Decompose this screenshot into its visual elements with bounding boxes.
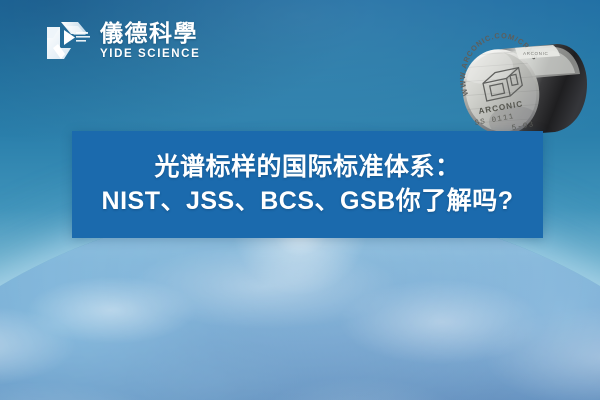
yide-logo-mark-icon	[44, 18, 92, 64]
brand-name-en: YIDE SCIENCE	[100, 49, 200, 61]
brand-name-cn: 儀德科學	[100, 22, 200, 45]
banner-title-line-1: 光谱标样的国际标准体系：	[154, 152, 460, 183]
banner-image: 儀德科學 YIDE SCIENCE	[0, 0, 600, 400]
banner-title-line-2: NIST、JSS、BCS、GSB你了解吗?	[102, 186, 514, 217]
brand-logo-text: 儀德科學 YIDE SCIENCE	[100, 22, 200, 61]
title-banner: 光谱标样的国际标准体系： NIST、JSS、BCS、GSB你了解吗?	[72, 131, 543, 238]
brand-logo: 儀德科學 YIDE SCIENCE	[44, 18, 200, 64]
disc-chip-text: ARCONIC	[523, 51, 548, 56]
